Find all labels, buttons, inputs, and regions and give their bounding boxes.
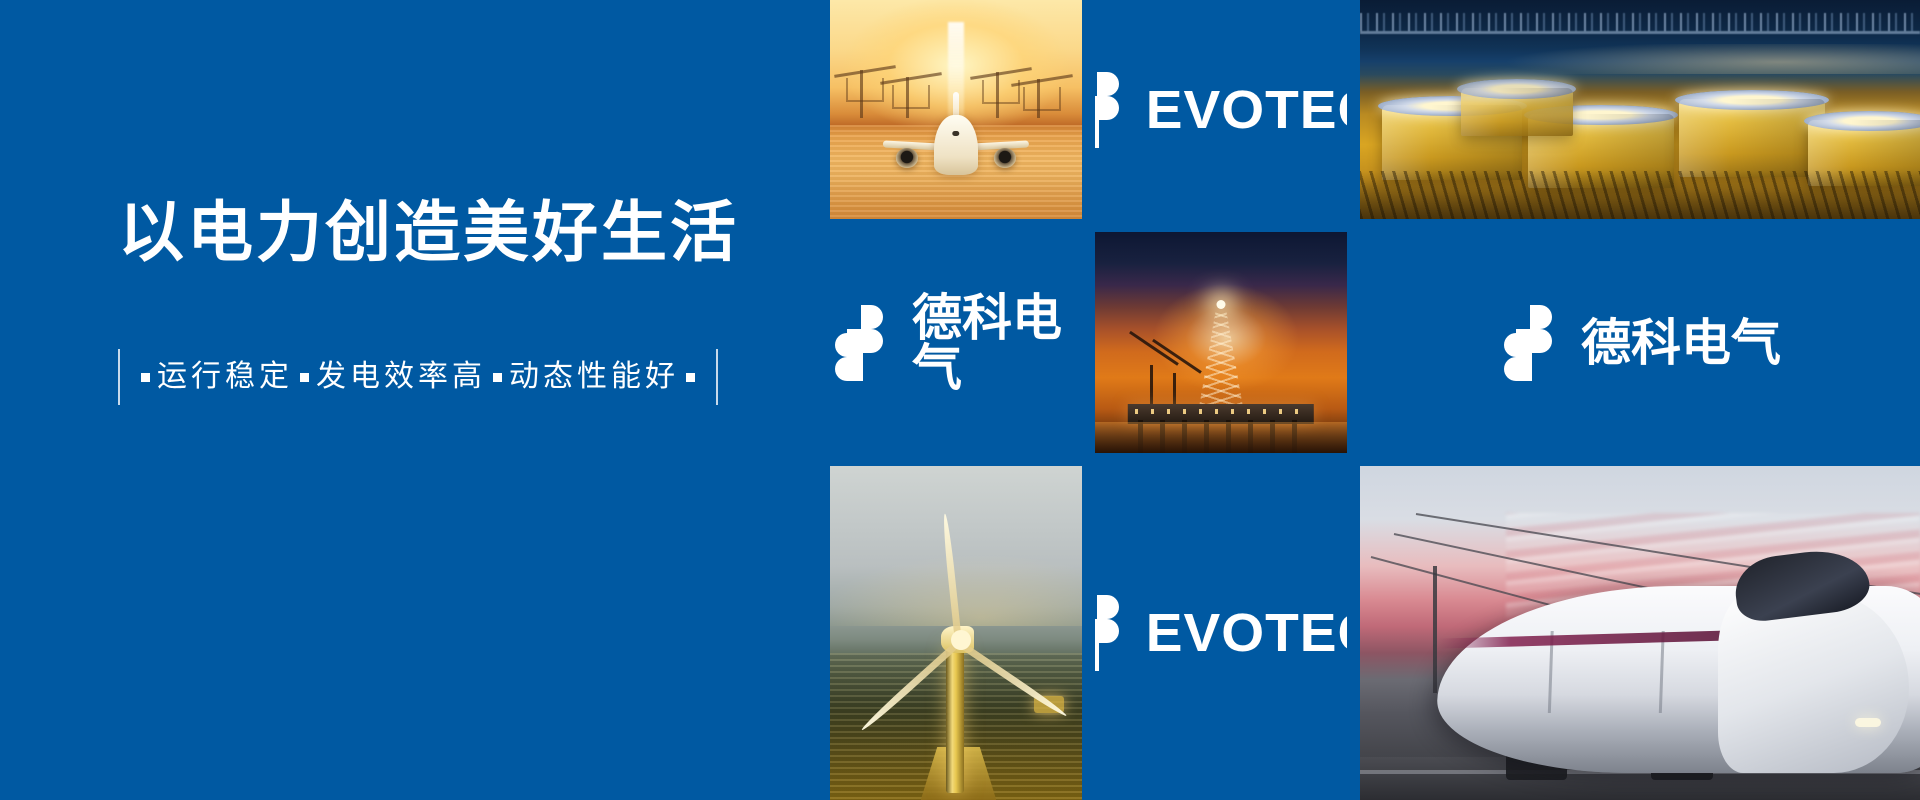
mosaic-cell-airplane	[830, 0, 1082, 219]
brand-lockup-cn: 德科电气	[830, 232, 1082, 453]
cockpit-window	[952, 131, 959, 136]
subtitle-item-1: 运行稳定	[157, 362, 293, 392]
mosaic-cell-logo-evotec-bottom: EVOTEC	[1095, 466, 1347, 800]
crane-icon	[1037, 79, 1040, 118]
sea-surface	[1095, 422, 1347, 453]
train-door	[1659, 631, 1665, 713]
subtitle-items: 运行稳定 发电效率高 动态性能好	[120, 362, 716, 392]
photo-tidal-turbine-dusk	[830, 466, 1082, 800]
mosaic-cell-train	[1360, 466, 1920, 800]
train-nose-cone	[1718, 593, 1908, 773]
train-headlight	[1855, 718, 1881, 727]
drilling-derrick	[1198, 312, 1244, 414]
hero-banner: 以电力创造美好生活 运行稳定 发电效率高 动态性能好	[0, 0, 1920, 800]
photo-oil-storage-tanks-night	[1360, 0, 1920, 219]
bullet-icon	[493, 373, 502, 382]
mosaic-cell-logo-cn-left: 德科电气	[830, 232, 1082, 453]
harbor-lights	[1360, 44, 1920, 75]
city-skyline	[1360, 13, 1920, 31]
brand-lockup-en: EVOTEC	[1095, 0, 1347, 219]
evotec-pinwheel-mark-icon	[1095, 70, 1132, 150]
mosaic-cell-oil-tanks	[1360, 0, 1920, 219]
storage-tank	[1461, 88, 1573, 136]
mosaic-cell-oil-rig	[1095, 232, 1347, 453]
subtitle-item-2: 发电效率高	[316, 362, 486, 392]
headline-block: 以电力创造美好生活 运行稳定 发电效率高 动态性能好	[118, 196, 818, 406]
mosaic-cell-logo-evotec-top: EVOTEC	[1095, 0, 1347, 219]
turbine-hub	[951, 630, 971, 650]
subtitle-rule-right	[716, 349, 718, 405]
bullet-icon	[300, 373, 309, 382]
ground-vegetation	[1360, 171, 1920, 219]
mosaic-cell-logo-cn-right: 德科电气	[1360, 232, 1920, 453]
crane-icon	[1150, 365, 1153, 409]
brand-lockup-en: EVOTEC	[1095, 466, 1347, 800]
airplane-shape	[883, 110, 1029, 184]
photo-offshore-oil-rig-sunset	[1095, 232, 1347, 453]
storage-tank	[1679, 99, 1825, 178]
brand-lockup-cn: 德科电气	[1360, 232, 1920, 453]
subtitle-item-3: 动态性能好	[509, 362, 679, 392]
bullet-icon	[141, 373, 150, 382]
subtitle-block: 运行稳定 发电效率高 动态性能好	[118, 348, 818, 406]
airplane-engine-right	[994, 148, 1016, 167]
deke-wordmark: 德科电气	[912, 293, 1082, 393]
evotec-pinwheel-mark-icon	[830, 303, 896, 383]
page-headline: 以电力创造美好生活	[118, 196, 818, 270]
bullet-icon	[686, 373, 695, 382]
image-mosaic-grid: EVOTEC	[830, 0, 1920, 800]
photo-high-speed-train	[1360, 466, 1920, 800]
airplane-fuselage	[934, 115, 978, 175]
mosaic-cell-turbine	[830, 466, 1082, 800]
evotec-wordmark: EVOTEC	[1146, 83, 1347, 137]
deke-wordmark: 德科电气	[1581, 318, 1781, 368]
crane-icon	[860, 70, 863, 118]
photo-airplane-at-port-sunset	[830, 0, 1082, 219]
evotec-wordmark: EVOTEC	[1146, 606, 1347, 660]
turbine-tower	[946, 646, 964, 793]
airplane-engine-left	[896, 148, 918, 167]
evotec-pinwheel-mark-icon	[1095, 593, 1132, 673]
catenary-pole	[1433, 566, 1437, 693]
evotec-pinwheel-mark-icon	[1499, 303, 1565, 383]
